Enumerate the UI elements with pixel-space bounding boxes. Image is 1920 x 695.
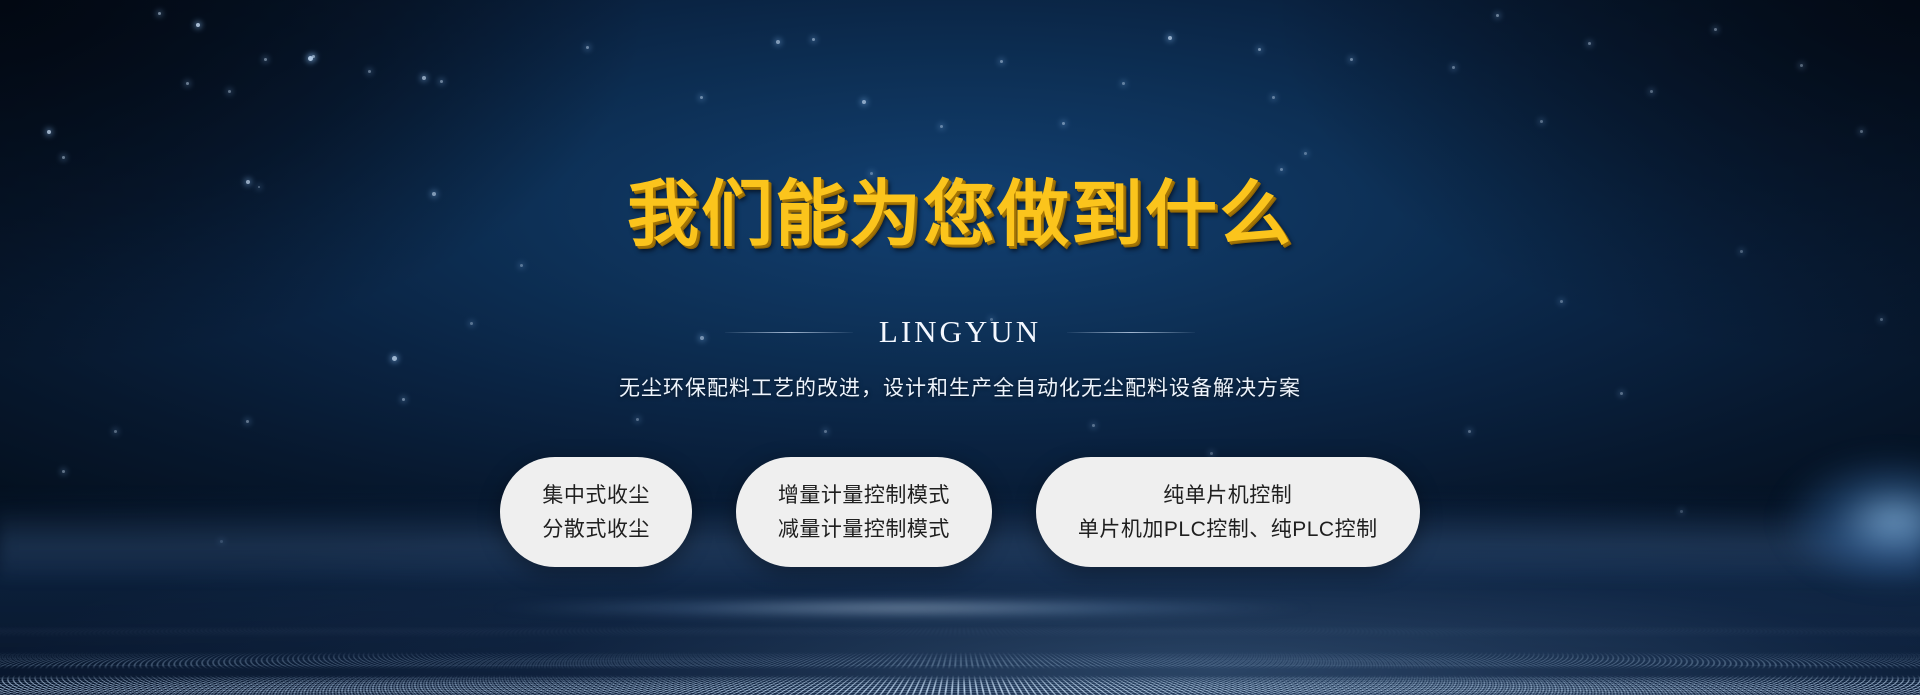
capability-card-metering-mode[interactable]: 增量计量控制模式 减量计量控制模式 bbox=[736, 457, 992, 567]
capability-card-control-system[interactable]: 纯单片机控制 单片机加PLC控制、纯PLC控制 bbox=[1036, 457, 1420, 567]
capability-card-dust-collection[interactable]: 集中式收尘 分散式收尘 bbox=[500, 457, 692, 567]
hero-banner: 我们能为您做到什么 LINGYUN 无尘环保配料工艺的改进，设计和生产全自动化无… bbox=[0, 0, 1920, 695]
brand-name-en: LINGYUN bbox=[879, 314, 1041, 350]
banner-content: 我们能为您做到什么 LINGYUN 无尘环保配料工艺的改进，设计和生产全自动化无… bbox=[0, 0, 1920, 695]
banner-tagline: 无尘环保配料工艺的改进，设计和生产全自动化无尘配料设备解决方案 bbox=[619, 372, 1301, 402]
banner-headline: 我们能为您做到什么 bbox=[627, 178, 1293, 250]
rule-left-icon bbox=[725, 332, 853, 333]
card-line-1: 增量计量控制模式 bbox=[778, 485, 950, 506]
brand-subtitle-row: LINGYUN bbox=[725, 314, 1195, 350]
card-line-1: 纯单片机控制 bbox=[1163, 485, 1292, 506]
card-line-2: 单片机加PLC控制、纯PLC控制 bbox=[1078, 519, 1378, 540]
capability-card-list: 集中式收尘 分散式收尘 增量计量控制模式 减量计量控制模式 纯单片机控制 单片机… bbox=[500, 457, 1419, 567]
card-line-2: 分散式收尘 bbox=[542, 519, 650, 540]
rule-right-icon bbox=[1067, 332, 1195, 333]
card-line-2: 减量计量控制模式 bbox=[778, 519, 950, 540]
card-line-1: 集中式收尘 bbox=[542, 485, 650, 506]
